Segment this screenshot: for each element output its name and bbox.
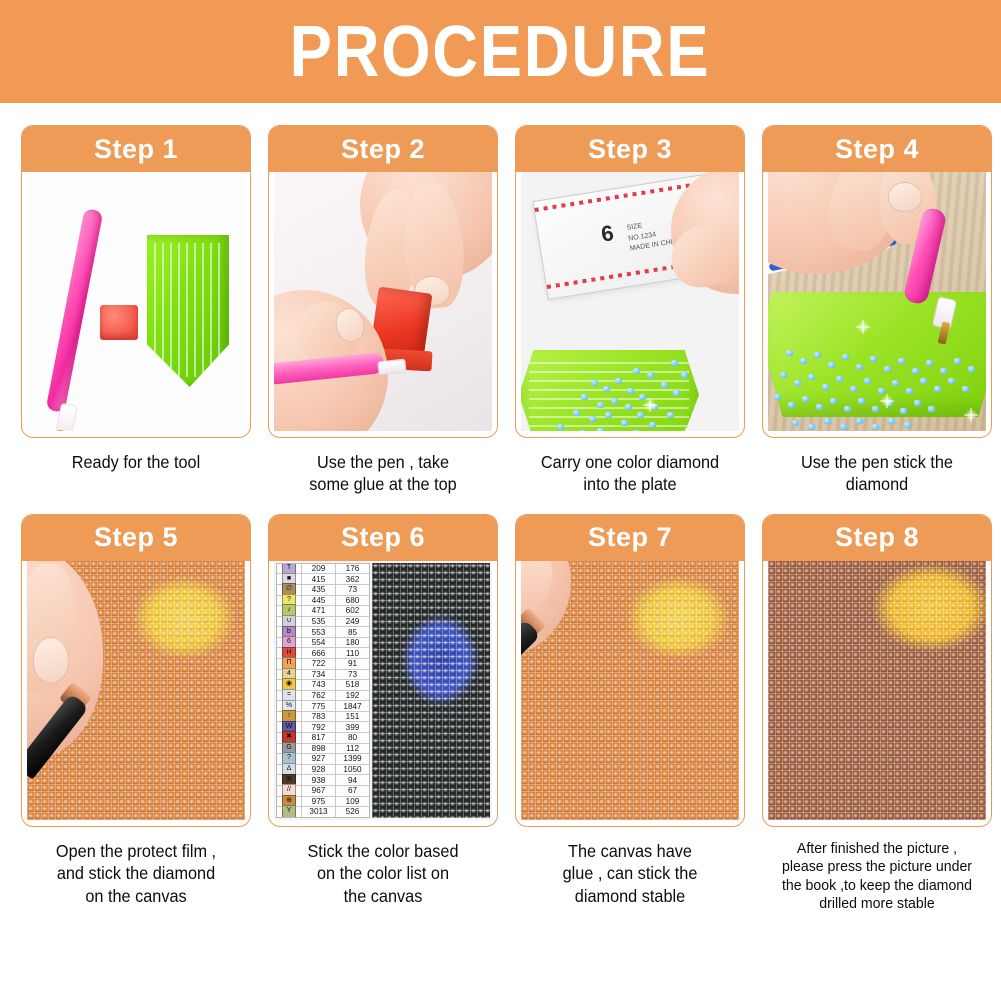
color-code-cell: 3013 bbox=[302, 807, 336, 817]
step-cell-8: Step 8 After finished the picture , plea… bbox=[762, 514, 992, 914]
caption-line: Open the protect film , bbox=[29, 840, 243, 862]
step-card-6[interactable]: Step 6 T209176■415362∅43573?445680♪47160… bbox=[268, 514, 498, 827]
color-count-cell: 526 bbox=[336, 807, 369, 817]
step-caption-8: After finished the picture , please pres… bbox=[770, 840, 984, 914]
caption-line: drilled more stable bbox=[770, 895, 984, 914]
color-count-cell: 602 bbox=[336, 606, 369, 616]
color-count-cell: 680 bbox=[336, 596, 369, 606]
step-cell-2: Step 2 bbox=[268, 125, 498, 496]
step-photo-1 bbox=[27, 172, 245, 431]
step-badge-4: Step 4 bbox=[763, 126, 991, 172]
color-code-cell: 775 bbox=[302, 701, 336, 711]
steps-row-top: Step 1 Ready for the tool bbox=[0, 125, 1001, 496]
color-count-cell: 1847 bbox=[336, 701, 369, 711]
caption-line: Stick the color based bbox=[276, 840, 490, 862]
color-code-cell: 743 bbox=[302, 680, 336, 690]
color-count-cell: 85 bbox=[336, 627, 369, 637]
color-code-cell: 471 bbox=[302, 606, 336, 616]
caption-line: The canvas have bbox=[523, 840, 737, 862]
color-count-cell: 1399 bbox=[336, 754, 369, 764]
color-symbol-cell: Y bbox=[277, 807, 302, 817]
color-code-cell: 722 bbox=[302, 659, 336, 669]
step-card-1[interactable]: Step 1 bbox=[21, 125, 251, 438]
color-code-cell: 209 bbox=[302, 564, 336, 574]
color-count-cell: 151 bbox=[336, 712, 369, 722]
step-badge-5: Step 5 bbox=[22, 515, 250, 561]
caption-line: and stick the diamond bbox=[29, 862, 243, 884]
color-count-cell: 180 bbox=[336, 638, 369, 648]
caption-line: on the canvas bbox=[29, 885, 243, 907]
mosaic-canvas bbox=[768, 561, 986, 820]
caption-line: After finished the picture , bbox=[770, 840, 984, 859]
color-code-cell: 554 bbox=[302, 638, 336, 648]
step-card-4[interactable]: Step 4 bbox=[762, 125, 992, 438]
step-photo-5 bbox=[27, 561, 245, 820]
color-count-cell: 73 bbox=[336, 585, 369, 595]
step-cell-5: Step 5 Open the protect film , and stic bbox=[21, 514, 251, 914]
step-caption-6: Stick the color based on the color list … bbox=[276, 840, 490, 907]
step-cell-7: Step 7 The canvas have glue , can stick … bbox=[515, 514, 745, 914]
step-caption-1: Ready for the tool bbox=[29, 451, 243, 473]
step-caption-2: Use the pen , take some glue at the top bbox=[276, 451, 490, 496]
color-code-cell: 928 bbox=[302, 765, 336, 775]
color-count-cell: 399 bbox=[336, 722, 369, 732]
steps-grid: Step 1 Ready for the tool bbox=[0, 103, 1001, 914]
caption-line: Carry one color diamond bbox=[523, 451, 737, 473]
caption-line: Ready for the tool bbox=[29, 451, 243, 473]
color-count-cell: 91 bbox=[336, 659, 369, 669]
step-badge-2: Step 2 bbox=[269, 126, 497, 172]
color-swatch: Y bbox=[282, 805, 296, 817]
steps-row-bottom: Step 5 Open the protect film , and stic bbox=[0, 514, 1001, 914]
step-badge-3: Step 3 bbox=[516, 126, 744, 172]
glue-square-icon bbox=[100, 305, 138, 340]
caption-line: diamond stable bbox=[523, 885, 737, 907]
caption-line: glue , can stick the bbox=[523, 862, 737, 884]
color-count-cell: 249 bbox=[336, 617, 369, 627]
caption-line: Use the pen , take bbox=[276, 451, 490, 473]
step-photo-4 bbox=[768, 172, 986, 431]
color-code-cell: 415 bbox=[302, 574, 336, 584]
caption-line: please press the picture under bbox=[770, 858, 984, 877]
page-header-banner: PROCEDURE bbox=[0, 0, 1001, 103]
step-badge-6: Step 6 bbox=[269, 515, 497, 561]
caption-line: on the color list on bbox=[276, 862, 490, 884]
step-cell-3: Step 3 6 SIZENO.1234MADE IN CHINA bbox=[515, 125, 745, 496]
step-cell-1: Step 1 Ready for the tool bbox=[21, 125, 251, 496]
color-count-cell: 362 bbox=[336, 574, 369, 584]
step-cell-6: Step 6 T209176■415362∅43573?445680♪47160… bbox=[268, 514, 498, 914]
color-count-cell: 192 bbox=[336, 691, 369, 701]
color-code-cell: 666 bbox=[302, 648, 336, 658]
caption-line: the canvas bbox=[276, 885, 490, 907]
diamond-beads bbox=[521, 172, 739, 431]
step-photo-6: T209176■415362∅43573?445680♪471602∪53524… bbox=[274, 561, 492, 820]
color-code-cell: 927 bbox=[302, 754, 336, 764]
step-card-5[interactable]: Step 5 bbox=[21, 514, 251, 827]
step-card-7[interactable]: Step 7 bbox=[515, 514, 745, 827]
step-card-2[interactable]: Step 2 bbox=[268, 125, 498, 438]
color-count-cell: 112 bbox=[336, 744, 369, 754]
step-card-3[interactable]: Step 3 6 SIZENO.1234MADE IN CHINA bbox=[515, 125, 745, 438]
mosaic-canvas bbox=[372, 563, 490, 818]
step-badge-1: Step 1 bbox=[22, 126, 250, 172]
color-code-cell: 792 bbox=[302, 722, 336, 732]
color-count-cell: 518 bbox=[336, 680, 369, 690]
step-caption-4: Use the pen stick the diamond bbox=[770, 451, 984, 496]
color-code-cell: 967 bbox=[302, 786, 336, 796]
step-photo-7 bbox=[521, 561, 739, 820]
page-title: PROCEDURE bbox=[290, 16, 711, 88]
caption-line: Use the pen stick the bbox=[770, 451, 984, 473]
color-count-cell: 67 bbox=[336, 786, 369, 796]
color-code-cell: 898 bbox=[302, 744, 336, 754]
color-code-cell: 535 bbox=[302, 617, 336, 627]
step-photo-8 bbox=[768, 561, 986, 820]
color-code-cell: 445 bbox=[302, 596, 336, 606]
step-card-8[interactable]: Step 8 bbox=[762, 514, 992, 827]
color-list-table: T209176■415362∅43573?445680♪471602∪53524… bbox=[276, 563, 370, 818]
caption-line: into the plate bbox=[523, 473, 737, 495]
color-code-cell: 435 bbox=[302, 585, 336, 595]
color-code-cell: 817 bbox=[302, 733, 336, 743]
step-photo-2 bbox=[274, 172, 492, 431]
step-cell-4: Step 4 bbox=[762, 125, 992, 496]
color-count-cell: 73 bbox=[336, 670, 369, 680]
caption-line: some glue at the top bbox=[276, 473, 490, 495]
color-count-cell: 109 bbox=[336, 797, 369, 807]
color-count-cell: 110 bbox=[336, 648, 369, 658]
step-badge-7: Step 7 bbox=[516, 515, 744, 561]
step-badge-8: Step 8 bbox=[763, 515, 991, 561]
step-caption-7: The canvas have glue , can stick the dia… bbox=[523, 840, 737, 907]
color-code-cell: 734 bbox=[302, 670, 336, 680]
step-photo-3: 6 SIZENO.1234MADE IN CHINA bbox=[521, 172, 739, 431]
caption-line: diamond bbox=[770, 473, 984, 495]
color-code-cell: 938 bbox=[302, 775, 336, 785]
color-code-cell: 553 bbox=[302, 627, 336, 637]
color-code-cell: 762 bbox=[302, 691, 336, 701]
color-code-cell: 783 bbox=[302, 712, 336, 722]
color-code-cell: 975 bbox=[302, 797, 336, 807]
step-caption-5: Open the protect film , and stick the di… bbox=[29, 840, 243, 907]
color-count-cell: 80 bbox=[336, 733, 369, 743]
color-count-cell: 1050 bbox=[336, 765, 369, 775]
color-count-cell: 94 bbox=[336, 775, 369, 785]
step-caption-3: Carry one color diamond into the plate bbox=[523, 451, 737, 496]
color-count-cell: 176 bbox=[336, 564, 369, 574]
color-list-row: Y3013526 bbox=[277, 807, 369, 817]
caption-line: the book ,to keep the diamond bbox=[770, 877, 984, 896]
